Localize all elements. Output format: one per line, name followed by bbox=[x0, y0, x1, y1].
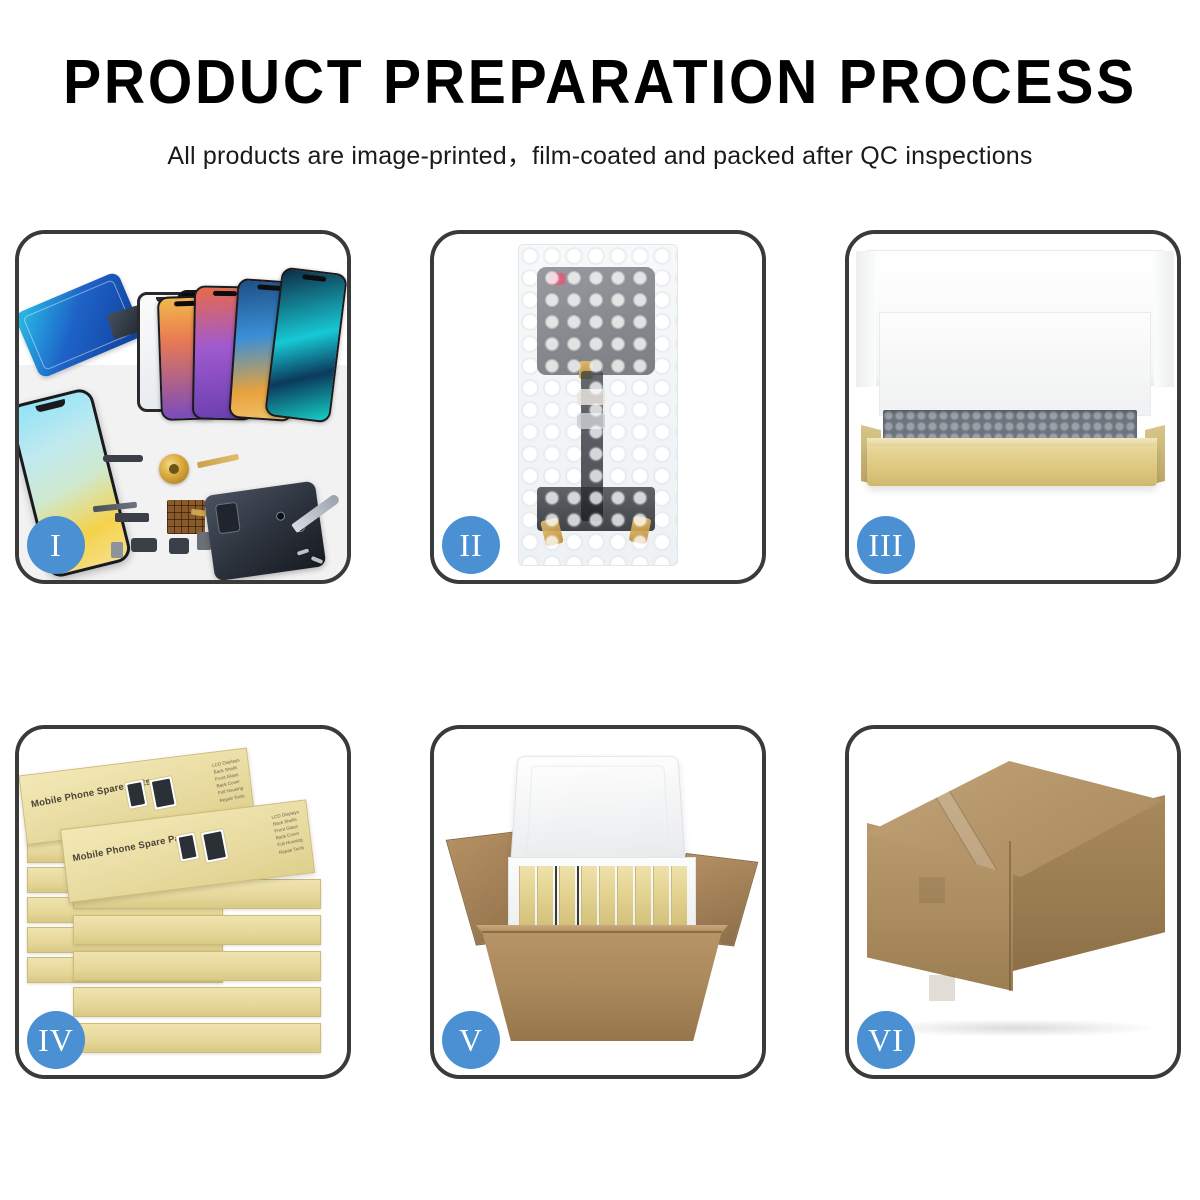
box-gap bbox=[577, 866, 579, 926]
step-badge-6: VI bbox=[857, 1011, 915, 1069]
camera-module bbox=[215, 502, 241, 535]
step-panel-4: Mobile Phone Spare Parts LCD Displays Ba… bbox=[15, 725, 351, 1079]
carton-seam bbox=[1009, 841, 1011, 991]
box-screen-thumb bbox=[175, 832, 200, 863]
carton-tab bbox=[919, 877, 945, 903]
box-spec-list: LCD Displays Back Shells Front Glass Bac… bbox=[212, 756, 248, 804]
stacked-box bbox=[73, 951, 321, 981]
ic-chip-part bbox=[167, 500, 205, 534]
screws-group bbox=[297, 550, 333, 566]
packed-box bbox=[599, 866, 615, 926]
page-subtitle: All products are image-printed，film-coat… bbox=[0, 136, 1200, 172]
stacked-box bbox=[73, 987, 321, 1017]
lcd-connector bbox=[577, 413, 605, 429]
step-panel-3: III bbox=[845, 230, 1181, 584]
phone-notch bbox=[35, 399, 66, 413]
carton-tab bbox=[929, 975, 955, 1001]
process-steps-grid: I bbox=[15, 230, 1185, 1090]
box-screen-artwork bbox=[176, 829, 229, 867]
bubble-wrap-bag bbox=[518, 244, 678, 566]
infographic-root: PRODUCT PREPARATION PROCESS All products… bbox=[0, 0, 1200, 1200]
box-stacks: Mobile Phone Spare Parts LCD Displays Ba… bbox=[25, 751, 345, 1061]
packed-box bbox=[559, 866, 575, 926]
step-badge-1: I bbox=[27, 516, 85, 574]
vibration-motor-part bbox=[159, 454, 189, 484]
camera-lens bbox=[276, 511, 286, 521]
sim-tray-part bbox=[111, 542, 123, 558]
packed-box bbox=[635, 866, 651, 926]
box-spec-list: LCD Displays Back Shells Front Glass Bac… bbox=[271, 808, 307, 856]
inner-box-interior bbox=[879, 312, 1151, 416]
step-badge-3: III bbox=[857, 516, 915, 574]
step-badge-5: V bbox=[442, 1011, 500, 1069]
foam-lid bbox=[510, 756, 686, 870]
camera-part bbox=[131, 538, 157, 552]
packed-boxes-row bbox=[519, 866, 687, 926]
box-screen-artwork bbox=[124, 776, 177, 814]
box-gap bbox=[555, 866, 557, 926]
box-screen-thumb bbox=[148, 775, 178, 811]
step-badge-4: IV bbox=[27, 1011, 85, 1069]
smartphone-fan bbox=[121, 260, 341, 420]
connector-part bbox=[115, 513, 149, 522]
stacked-box bbox=[73, 915, 321, 945]
box-front-panel bbox=[867, 446, 1157, 486]
packed-box bbox=[581, 866, 597, 926]
step-panel-2: II bbox=[430, 230, 766, 584]
speaker-part bbox=[169, 538, 189, 554]
gold-contact bbox=[628, 515, 651, 544]
box-screen-thumb bbox=[200, 828, 230, 864]
step-panel-5: V bbox=[430, 725, 766, 1079]
step-panel-1: I bbox=[15, 230, 351, 584]
earpiece-part bbox=[103, 455, 143, 462]
stacked-box bbox=[73, 1023, 321, 1053]
qc-label-sticker bbox=[549, 273, 565, 285]
lcd-assembly bbox=[537, 267, 655, 549]
box-screen-thumb bbox=[123, 779, 148, 810]
packed-box bbox=[537, 866, 553, 926]
step-badge-2: II bbox=[442, 516, 500, 574]
lcd-connector bbox=[577, 389, 605, 405]
page-title: PRODUCT PREPARATION PROCESS bbox=[48, 52, 1152, 114]
step-panel-6: VI bbox=[845, 725, 1181, 1079]
sealed-carton bbox=[861, 761, 1171, 1031]
packed-box bbox=[617, 866, 633, 926]
foam-tray bbox=[508, 857, 696, 935]
carton-body bbox=[482, 931, 722, 1041]
packed-box bbox=[671, 866, 687, 926]
packed-box bbox=[653, 866, 669, 926]
open-carton bbox=[452, 753, 752, 1045]
header: PRODUCT PREPARATION PROCESS All products… bbox=[0, 52, 1200, 172]
packed-box bbox=[519, 866, 535, 926]
